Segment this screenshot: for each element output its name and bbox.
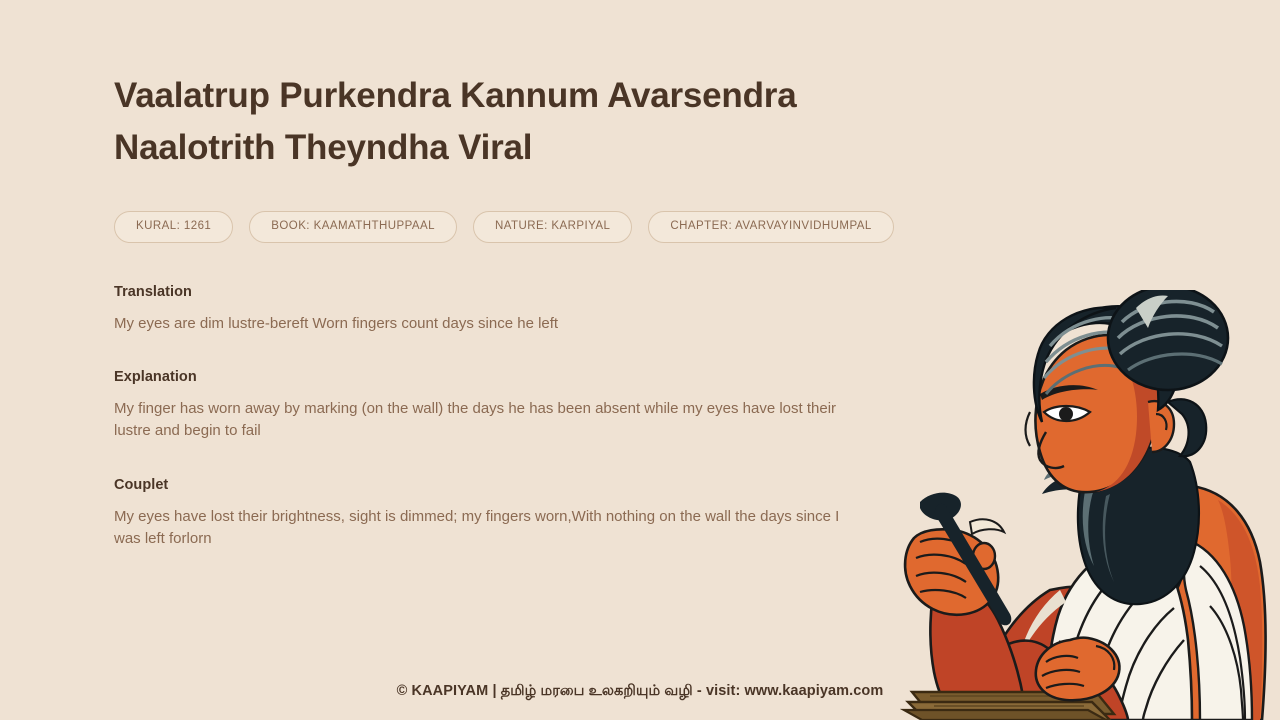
footer-credit: © KAAPIYAM | தமிழ் மரபை உலகறியும் வழி - … xyxy=(0,683,1280,701)
section-heading-explanation: Explanation xyxy=(114,369,914,385)
tag-kural-number[interactable]: KURAL: 1261 xyxy=(114,211,233,244)
tag-nature[interactable]: NATURE: KARPIYAL xyxy=(473,211,632,244)
tag-book[interactable]: BOOK: KAAMATHTHUPPAAL xyxy=(249,211,457,244)
section-body-explanation: My finger has worn away by marking (on t… xyxy=(114,398,849,442)
section-heading-couplet: Couplet xyxy=(114,477,914,493)
tag-chapter[interactable]: CHAPTER: AVARVAYINVIDHUMPAL xyxy=(648,211,893,244)
section-heading-translation: Translation xyxy=(114,284,914,300)
section-body-translation: My eyes are dim lustre-bereft Worn finge… xyxy=(114,313,849,335)
page-title: Vaalatrup Purkendra Kannum Avarsendra Na… xyxy=(114,70,854,174)
thiruvalluvar-illustration xyxy=(900,290,1280,720)
section-body-couplet: My eyes have lost their brightness, sigh… xyxy=(114,506,849,550)
section-translation: Translation My eyes are dim lustre-beref… xyxy=(114,284,914,335)
kural-tag-row: KURAL: 1261 BOOK: KAAMATHTHUPPAAL NATURE… xyxy=(114,211,914,244)
kural-content: Vaalatrup Purkendra Kannum Avarsendra Na… xyxy=(114,70,914,550)
section-couplet: Couplet My eyes have lost their brightne… xyxy=(114,477,914,550)
section-explanation: Explanation My finger has worn away by m… xyxy=(114,369,914,442)
kural-card-page: Vaalatrup Purkendra Kannum Avarsendra Na… xyxy=(0,0,1280,720)
